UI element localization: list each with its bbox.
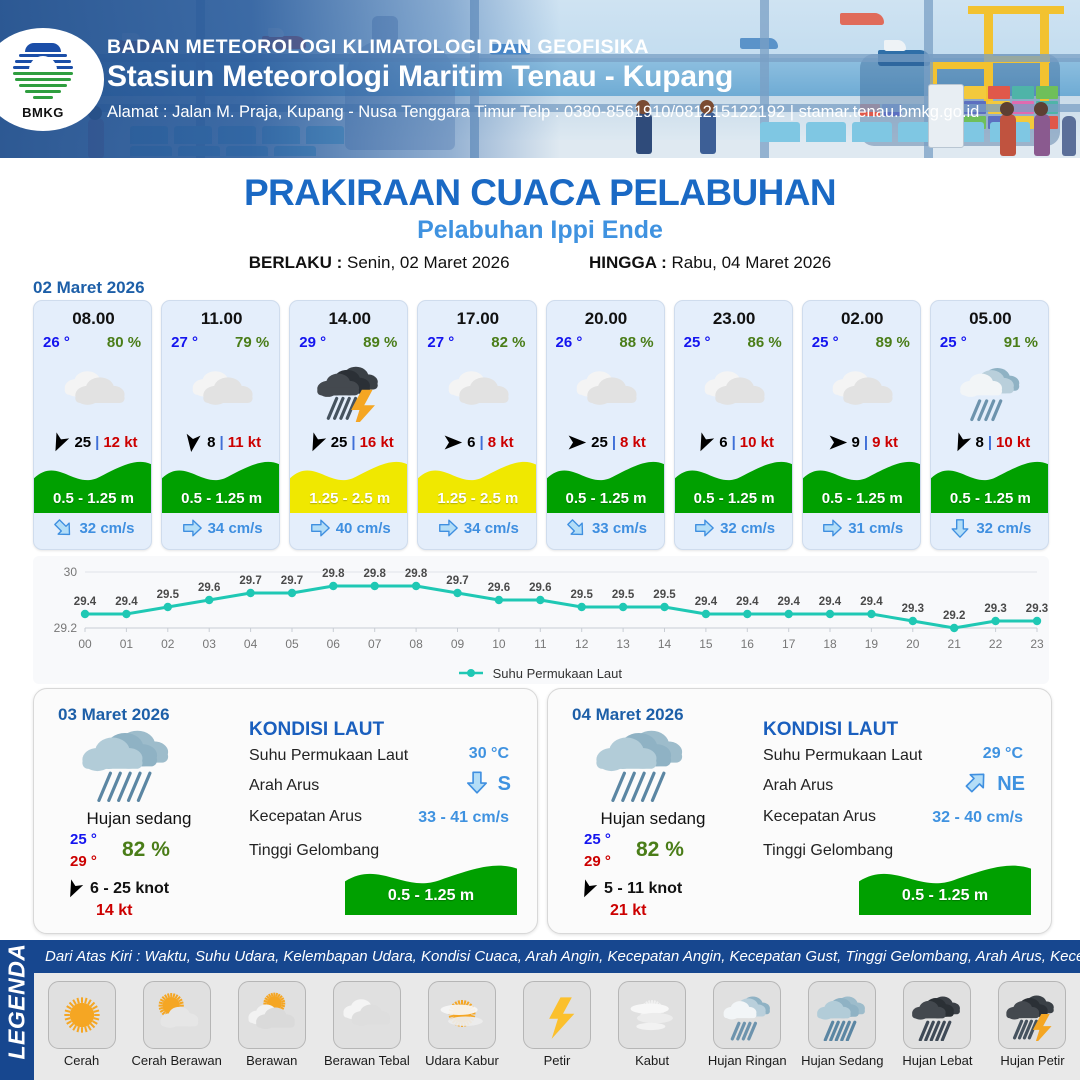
card-time: 08.00	[34, 309, 152, 329]
svg-text:29.8: 29.8	[322, 568, 345, 580]
svg-text:29.3: 29.3	[902, 603, 924, 615]
svg-text:29.6: 29.6	[198, 582, 220, 594]
wind-separator: |	[988, 434, 992, 451]
weather-icon-hujan-petir	[290, 359, 408, 423]
day-wind-row: 6 - 25 knot	[64, 879, 169, 899]
legend-item-label: Hujan Lebat	[902, 1053, 972, 1068]
wave-height-value: 0.5 - 1.25 m	[675, 490, 793, 507]
station-address: Alamat : Jalan M. Praja, Kupang - Nusa T…	[107, 103, 979, 122]
current-speed-value: 33 - 41 cm/s	[418, 809, 509, 827]
legend-items: Cerah Cerah Berawan Berawan	[34, 976, 1080, 1080]
wave-height-value: 0.5 - 1.25 m	[162, 490, 280, 507]
wave-height-value: 1.25 - 2.5 m	[290, 490, 408, 507]
svg-text:22: 22	[989, 637, 1003, 651]
card-time: 11.00	[162, 309, 280, 329]
card-wind-row: 6 | 10 kt	[675, 429, 793, 455]
svg-text:29.5: 29.5	[612, 589, 635, 601]
wind-direction-value: 25	[591, 434, 608, 451]
weather-icon-hujan-petir	[998, 981, 1066, 1049]
validity-line: BERLAKU : Senin, 02 Maret 2026 HINGGA : …	[0, 253, 1080, 273]
current-speed-value: 32 cm/s	[720, 520, 775, 537]
svg-text:17: 17	[782, 637, 796, 651]
svg-text:07: 07	[368, 637, 382, 651]
card-humidity: 89 %	[876, 334, 910, 351]
current-direction-arrow-icon	[52, 517, 74, 539]
sst-label: Suhu Permukaan Laut	[763, 747, 922, 765]
legend-item-label: Petir	[544, 1053, 571, 1068]
weather-icon-cerah-berawan	[143, 981, 211, 1049]
day-temp-max: 29 °	[584, 853, 611, 870]
page-title: PRAKIRAAN CUACA PELABUHAN	[0, 172, 1080, 214]
hourly-date-label: 02 Maret 2026	[33, 278, 145, 298]
wind-direction-value: 6	[719, 434, 727, 451]
card-current-row: 34 cm/s	[162, 514, 280, 542]
legend-item: Berawan Tebal	[319, 976, 414, 1080]
hourly-card: 14.00 29 ° 89 % 25 | 16 kt 1.25 -	[289, 300, 408, 550]
legend-item: Petir	[509, 976, 604, 1080]
current-direction-arrow-icon	[181, 517, 203, 539]
day-temp-max: 29 °	[70, 853, 97, 870]
wind-speed-value: 11 kt	[228, 434, 261, 451]
legend-item: Udara Kabur	[414, 976, 509, 1080]
day-wave-height-value: 0.5 - 1.25 m	[859, 887, 1031, 905]
svg-text:29.4: 29.4	[819, 596, 842, 608]
wind-separator: |	[220, 434, 224, 451]
svg-text:29.2: 29.2	[943, 610, 965, 622]
svg-text:23: 23	[1030, 637, 1044, 651]
wind-direction-arrow-icon	[951, 432, 972, 453]
legend-item-label: Hujan Sedang	[801, 1053, 883, 1068]
agency-name: BADAN METEOROLOGI KLIMATOLOGI DAN GEOFIS…	[107, 36, 649, 59]
sst-label: Suhu Permukaan Laut	[249, 747, 408, 765]
svg-text:19: 19	[865, 637, 879, 651]
card-humidity: 79 %	[235, 334, 269, 351]
current-speed-value: 32 cm/s	[976, 520, 1031, 537]
wind-direction-arrow-icon	[566, 432, 587, 453]
wind-direction-arrow-icon	[442, 432, 463, 453]
current-speed-value: 34 cm/s	[464, 520, 519, 537]
svg-text:29.6: 29.6	[529, 582, 551, 594]
svg-text:20: 20	[906, 637, 920, 651]
legend-item: Hujan Sedang	[795, 976, 890, 1080]
svg-text:08: 08	[409, 637, 423, 651]
card-wind-row: 6 | 8 kt	[418, 429, 536, 455]
wind-direction-value: 9	[852, 434, 860, 451]
weather-icon-hujan-ringan	[713, 981, 781, 1049]
card-temperature: 26 °	[43, 334, 70, 351]
svg-text:13: 13	[616, 637, 630, 651]
legend-note: Dari Atas Kiri : Waktu, Suhu Udara, Kele…	[34, 948, 1080, 965]
svg-text:29.7: 29.7	[281, 575, 303, 587]
card-temperature: 27 °	[427, 334, 454, 351]
card-time: 20.00	[547, 309, 665, 329]
wind-speed-value: 8 kt	[620, 434, 646, 451]
wind-separator: |	[732, 434, 736, 451]
sea-condition-title: KONDISI LAUT	[249, 719, 384, 741]
svg-text:04: 04	[244, 637, 258, 651]
current-direction-arrow-icon	[693, 517, 715, 539]
current-direction-arrow-icon	[309, 517, 331, 539]
card-time: 05.00	[931, 309, 1049, 329]
current-speed-value: 34 cm/s	[208, 520, 263, 537]
svg-text:29.4: 29.4	[74, 596, 97, 608]
wind-separator: |	[351, 434, 355, 451]
day-condition: Hujan sedang	[568, 809, 738, 829]
card-humidity: 86 %	[748, 334, 782, 351]
wave-height-value: 1.25 - 2.5 m	[418, 490, 536, 507]
hourly-card: 08.00 26 ° 80 % 25 | 12 kt 0.5 - 1.25 m …	[33, 300, 152, 550]
berlaku-value: Senin, 02 Maret 2026	[347, 253, 510, 272]
weather-icon-hujan-sedang	[586, 721, 696, 803]
svg-text:10: 10	[492, 637, 506, 651]
wind-speed-value: 10 kt	[740, 434, 774, 451]
card-temperature: 29 °	[299, 334, 326, 351]
day-gust-value: 14 kt	[96, 902, 132, 920]
card-current-row: 40 cm/s	[290, 514, 408, 542]
svg-text:29.3: 29.3	[984, 603, 1006, 615]
card-temperature: 25 °	[684, 334, 711, 351]
weather-icon-cerah	[48, 981, 116, 1049]
current-direction-arrow-icon	[949, 517, 971, 539]
weather-icon-petir	[523, 981, 591, 1049]
card-current-row: 32 cm/s	[931, 514, 1049, 542]
legend-item-label: Cerah Berawan	[131, 1053, 221, 1068]
legend-item-label: Hujan Ringan	[708, 1053, 787, 1068]
card-humidity: 80 %	[107, 334, 141, 351]
hourly-card: 23.00 25 ° 86 % 6 | 10 kt 0.5 - 1.25 m 3…	[674, 300, 793, 550]
hourly-card: 11.00 27 ° 79 % 8 | 11 kt 0.5 - 1.25 m 3…	[161, 300, 280, 550]
weather-icon-hujan-ringan	[931, 359, 1049, 423]
hourly-card: 05.00 25 ° 91 % 8 | 10 kt 0.5 - 1.	[930, 300, 1049, 550]
svg-text:11: 11	[534, 637, 547, 651]
card-humidity: 91 %	[1004, 334, 1038, 351]
current-direction-arrow-icon	[437, 517, 459, 539]
legend-note-bar: Dari Atas Kiri : Waktu, Suhu Udara, Kele…	[34, 940, 1080, 973]
card-wind-row: 25 | 12 kt	[34, 429, 152, 455]
svg-text:12: 12	[575, 637, 589, 651]
station-name: Stasiun Meteorologi Maritim Tenau - Kupa…	[107, 60, 733, 94]
svg-text:09: 09	[451, 637, 465, 651]
wind-direction-value: 25	[331, 434, 348, 451]
wind-direction-arrow-icon	[827, 432, 848, 453]
hourly-card: 02.00 25 ° 89 % 9 | 9 kt 0.5 - 1.25 m 31…	[802, 300, 921, 550]
weather-icon-hujan-sedang	[72, 721, 182, 803]
current-speed-value: 31 cm/s	[848, 520, 903, 537]
card-current-row: 31 cm/s	[803, 514, 921, 542]
weather-icon-berawan	[675, 359, 793, 423]
wave-height-value: 0.5 - 1.25 m	[931, 490, 1049, 507]
weather-icon-udara-kabur	[428, 981, 496, 1049]
legend-item-label: Kabut	[635, 1053, 669, 1068]
bmkg-logo-mark	[11, 40, 75, 104]
card-wind-row: 25 | 8 kt	[547, 429, 665, 455]
weather-icon-berawan	[803, 359, 921, 423]
legend-item: Kabut	[605, 976, 700, 1080]
svg-text:21: 21	[948, 637, 962, 651]
wave-graphic	[345, 857, 517, 915]
wind-separator: |	[864, 434, 868, 451]
current-speed-value: 40 cm/s	[336, 520, 391, 537]
day-temp-min: 25 °	[584, 831, 611, 848]
legend-item: Hujan Petir	[985, 976, 1080, 1080]
legend-section: LEGENDA Dari Atas Kiri : Waktu, Suhu Uda…	[0, 940, 1080, 1080]
wave-height-value: 0.5 - 1.25 m	[547, 490, 665, 507]
card-temperature: 26 °	[556, 334, 583, 351]
current-speed-label: Kecepatan Arus	[763, 808, 876, 826]
wind-separator: |	[480, 434, 484, 451]
legend-item-label: Cerah	[64, 1053, 99, 1068]
chart-legend-marker	[458, 667, 484, 682]
legend-item: Cerah	[34, 976, 129, 1080]
day-humidity: 82 %	[122, 838, 170, 862]
current-speed-value: 32 cm/s	[79, 520, 134, 537]
weather-icon-berawan-legend	[238, 981, 306, 1049]
svg-text:29.7: 29.7	[239, 575, 261, 587]
card-current-row: 32 cm/s	[675, 514, 793, 542]
wind-speed-value: 12 kt	[103, 434, 137, 451]
svg-text:29.5: 29.5	[157, 589, 180, 601]
svg-text:18: 18	[823, 637, 837, 651]
svg-text:29.3: 29.3	[1026, 603, 1048, 615]
svg-text:05: 05	[285, 637, 299, 651]
page-subtitle: Pelabuhan Ippi Ende	[0, 216, 1080, 245]
wind-speed-value: 9 kt	[872, 434, 898, 451]
svg-text:29.5: 29.5	[653, 589, 676, 601]
legend-item-label: Berawan Tebal	[324, 1053, 410, 1068]
sea-condition-title: KONDISI LAUT	[763, 719, 898, 741]
current-direction-label: Arah Arus	[763, 777, 833, 795]
day-wind-row: 5 - 11 knot	[578, 879, 682, 899]
svg-text:29.8: 29.8	[364, 568, 387, 580]
card-humidity: 82 %	[491, 334, 525, 351]
card-wind-row: 8 | 11 kt	[162, 429, 280, 455]
current-direction-value: S	[498, 773, 511, 796]
berlaku-label: BERLAKU :	[249, 253, 343, 272]
wind-direction-arrow-icon	[182, 432, 203, 453]
svg-text:29.8: 29.8	[405, 568, 428, 580]
wind-direction-arrow-icon	[578, 879, 598, 899]
legend-item: Hujan Ringan	[700, 976, 795, 1080]
wind-separator: |	[95, 434, 99, 451]
hourly-forecast-row: 08.00 26 ° 80 % 25 | 12 kt 0.5 - 1.25 m …	[33, 300, 1049, 548]
daily-panel-1: 03 Maret 2026 Hujan sedang 25 ° 29 ° 82 …	[33, 688, 538, 934]
day-wave-height-value: 0.5 - 1.25 m	[345, 887, 517, 905]
card-temperature: 25 °	[812, 334, 839, 351]
legend-item-label: Udara Kabur	[425, 1053, 499, 1068]
current-direction-group: S	[464, 769, 511, 800]
current-direction-value: NE	[997, 773, 1025, 796]
card-current-row: 33 cm/s	[547, 514, 665, 542]
legend-item-label: Berawan	[246, 1053, 297, 1068]
legend-item: Berawan	[224, 976, 319, 1080]
sst-value: 30 °C	[469, 745, 509, 763]
wind-direction-value: 8	[976, 434, 984, 451]
svg-text:29.2: 29.2	[54, 621, 78, 635]
wind-direction-arrow-icon	[306, 432, 327, 453]
svg-text:16: 16	[741, 637, 755, 651]
wind-direction-value: 6	[467, 434, 475, 451]
legend-side-label: LEGENDA	[4, 950, 31, 1060]
hingga-label: HINGGA :	[589, 253, 667, 272]
card-time: 14.00	[290, 309, 408, 329]
card-humidity: 88 %	[619, 334, 653, 351]
legend-side-tab: LEGENDA	[0, 940, 34, 1080]
daily-panel-2: 04 Maret 2026 Hujan sedang 25 ° 29 ° 82 …	[547, 688, 1052, 934]
chart-legend-label: Suhu Permukaan Laut	[493, 666, 622, 681]
weather-icon-hujan-lebat	[903, 981, 971, 1049]
day-gust-value: 21 kt	[610, 902, 646, 920]
svg-text:29.7: 29.7	[446, 575, 468, 587]
current-direction-label: Arah Arus	[249, 777, 319, 795]
wind-direction-arrow-icon	[694, 432, 715, 453]
day-humidity: 82 %	[636, 838, 684, 862]
card-humidity: 89 %	[363, 334, 397, 351]
wave-height-value: 0.5 - 1.25 m	[34, 490, 152, 507]
wind-direction-arrow-icon	[64, 879, 84, 899]
card-time: 02.00	[803, 309, 921, 329]
svg-text:02: 02	[161, 637, 175, 651]
current-speed-value: 33 cm/s	[592, 520, 647, 537]
current-direction-arrow-icon	[464, 769, 490, 800]
card-wind-row: 8 | 10 kt	[931, 429, 1049, 455]
weather-icon-berawan	[34, 359, 152, 423]
legend-item: Hujan Lebat	[890, 976, 985, 1080]
wind-separator: |	[612, 434, 616, 451]
svg-text:15: 15	[699, 637, 713, 651]
current-speed-value: 32 - 40 cm/s	[932, 809, 1023, 827]
svg-text:30: 30	[64, 565, 78, 579]
svg-text:14: 14	[658, 637, 672, 651]
wind-direction-value: 25	[74, 434, 91, 451]
svg-text:03: 03	[203, 637, 217, 651]
wind-direction-value: 8	[207, 434, 215, 451]
day-wind-value: 6 - 25 knot	[90, 880, 169, 898]
wind-speed-value: 16 kt	[360, 434, 394, 451]
legend-item-label: Hujan Petir	[1000, 1053, 1064, 1068]
weather-icon-hujan-sedang	[808, 981, 876, 1049]
card-temperature: 25 °	[940, 334, 967, 351]
wave-height-value: 0.5 - 1.25 m	[803, 490, 921, 507]
hourly-card: 20.00 26 ° 88 % 25 | 8 kt 0.5 - 1.25 m 3…	[546, 300, 665, 550]
current-direction-arrow-icon	[963, 769, 989, 800]
svg-text:29.4: 29.4	[695, 596, 718, 608]
wind-speed-value: 8 kt	[488, 434, 514, 451]
page-header: BMKG BADAN METEOROLOGI KLIMATOLOGI DAN G…	[0, 0, 1080, 158]
svg-text:29.4: 29.4	[860, 596, 883, 608]
current-direction-arrow-icon	[565, 517, 587, 539]
weather-icon-berawan-tebal	[333, 981, 401, 1049]
sst-value: 29 °C	[983, 745, 1023, 763]
svg-text:06: 06	[327, 637, 341, 651]
legend-item: Cerah Berawan	[129, 976, 224, 1080]
svg-text:29.4: 29.4	[736, 596, 759, 608]
hourly-card: 17.00 27 ° 82 % 6 | 8 kt 1.25 - 2.5 m 34…	[417, 300, 536, 550]
chart-legend: Suhu Permukaan Laut	[0, 666, 1080, 682]
sst-chart: 30 29.2 29.429.429.529.629.729.729.829.8…	[33, 556, 1049, 684]
current-speed-label: Kecepatan Arus	[249, 808, 362, 826]
day-wind-value: 5 - 11 knot	[604, 880, 682, 898]
current-direction-group: NE	[963, 769, 1025, 800]
day-temp-min: 25 °	[70, 831, 97, 848]
svg-text:29.4: 29.4	[115, 596, 138, 608]
weather-icon-berawan	[162, 359, 280, 423]
weather-icon-berawan	[547, 359, 665, 423]
card-current-row: 32 cm/s	[34, 514, 152, 542]
svg-text:29.6: 29.6	[488, 582, 510, 594]
hingga-value: Rabu, 04 Maret 2026	[672, 253, 832, 272]
current-direction-arrow-icon	[821, 517, 843, 539]
wind-direction-arrow-icon	[49, 432, 70, 453]
card-temperature: 27 °	[171, 334, 198, 351]
svg-text:29.5: 29.5	[571, 589, 594, 601]
card-current-row: 34 cm/s	[418, 514, 536, 542]
day-condition: Hujan sedang	[54, 809, 224, 829]
weather-icon-berawan	[418, 359, 536, 423]
svg-text:29.4: 29.4	[778, 596, 801, 608]
wave-graphic	[859, 857, 1031, 915]
card-time: 17.00	[418, 309, 536, 329]
svg-text:00: 00	[78, 637, 92, 651]
card-time: 23.00	[675, 309, 793, 329]
wind-speed-value: 10 kt	[996, 434, 1030, 451]
card-wind-row: 9 | 9 kt	[803, 429, 921, 455]
card-wind-row: 25 | 16 kt	[290, 429, 408, 455]
svg-text:01: 01	[120, 637, 134, 651]
weather-icon-kabut	[618, 981, 686, 1049]
bmkg-logo-text: BMKG	[22, 105, 64, 120]
